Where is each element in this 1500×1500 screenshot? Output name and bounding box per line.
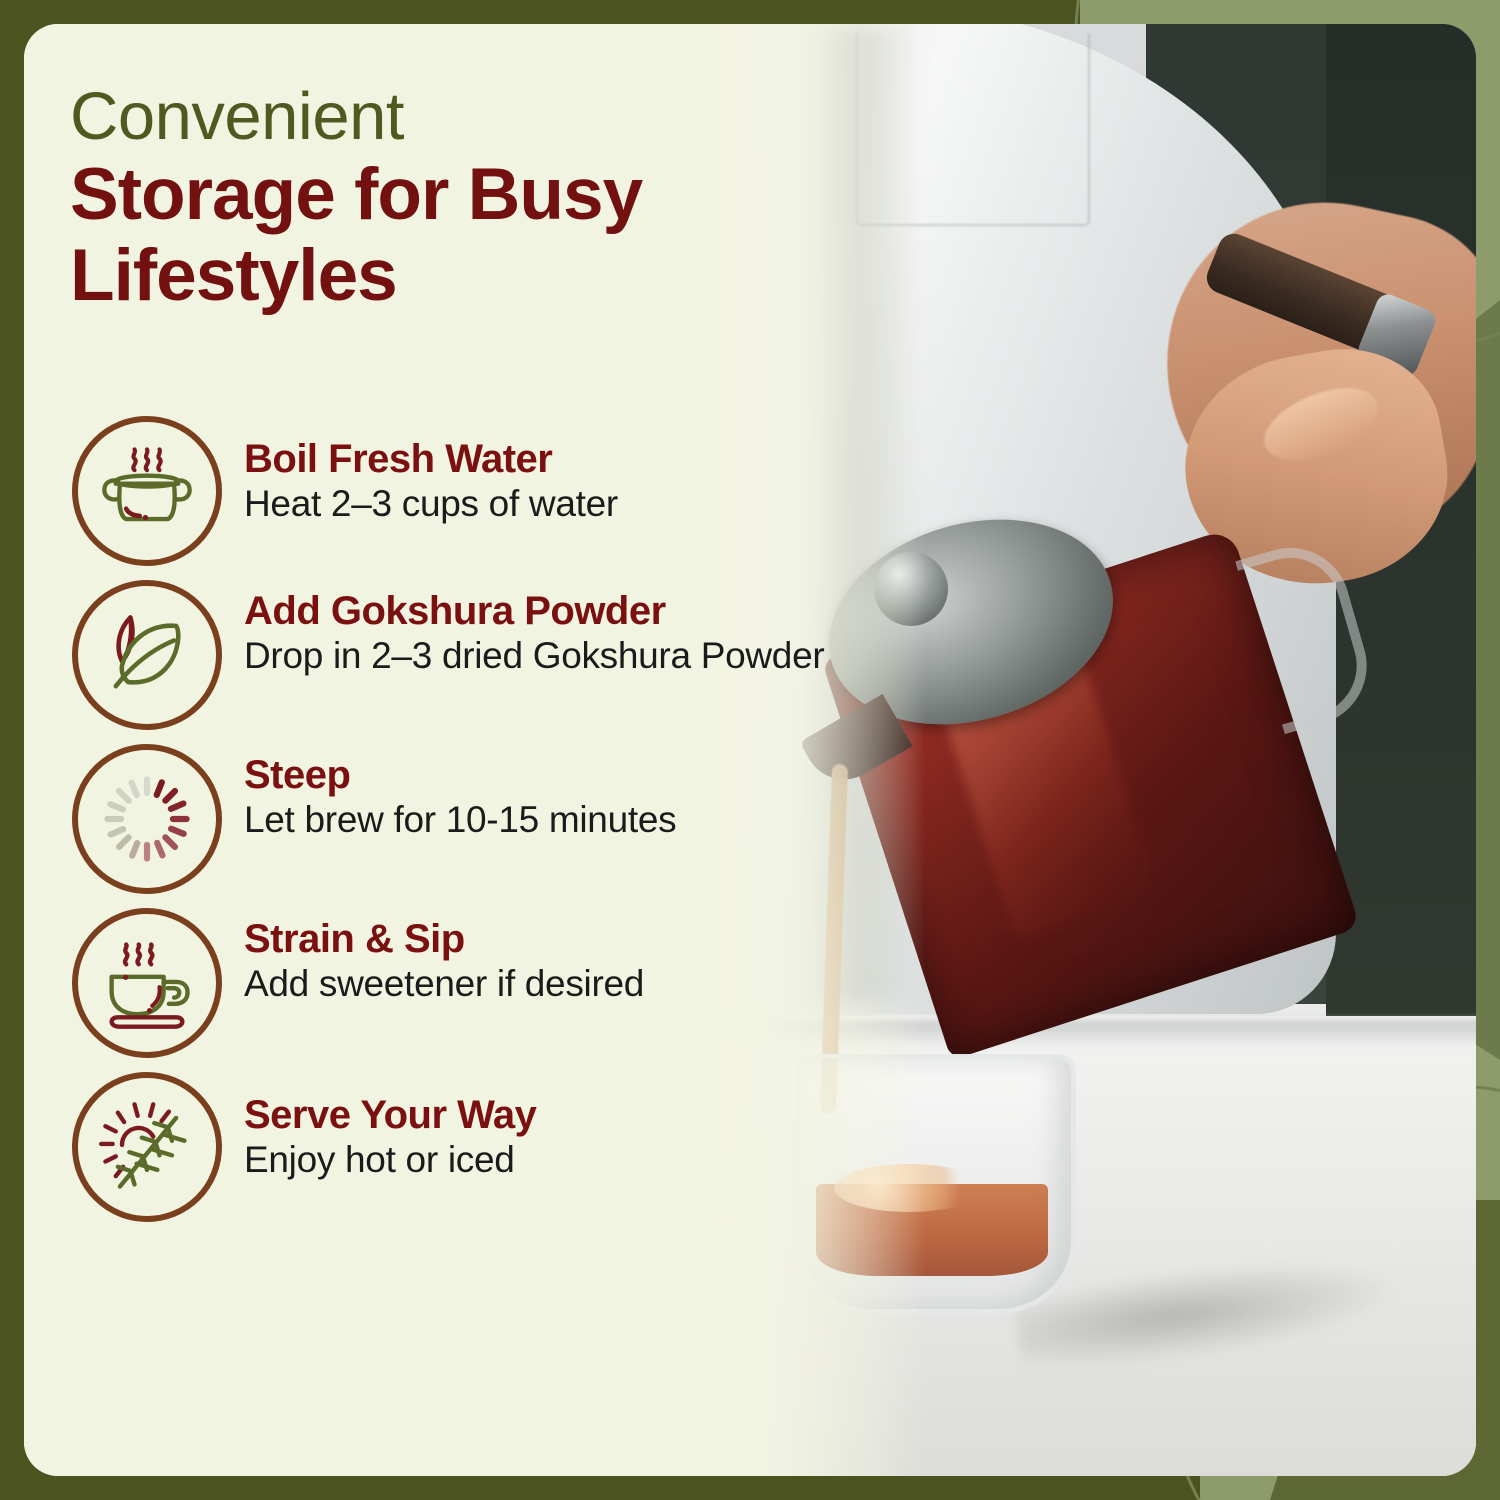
step-title: Boil Fresh Water — [244, 438, 618, 480]
step-icon-ring — [72, 1072, 222, 1222]
list-item: Serve Your Way Enjoy hot or iced — [72, 1072, 912, 1222]
two-leaves-icon — [95, 603, 199, 707]
step-icon-ring — [72, 744, 222, 894]
list-item: Add Gokshura Powder Drop in 2–3 dried Go… — [72, 580, 912, 730]
step-title: Serve Your Way — [244, 1094, 536, 1136]
step-title: Steep — [244, 754, 676, 796]
step-text: Add Gokshura Powder Drop in 2–3 dried Go… — [244, 580, 824, 677]
step-description: Heat 2–3 cups of water — [244, 483, 618, 524]
sun-and-snowflake-icon — [95, 1095, 199, 1199]
list-item: Steep Let brew for 10-15 minutes — [72, 744, 912, 894]
step-description: Drop in 2–3 dried Gokshura Powder — [244, 635, 824, 676]
radial-timer-icon — [95, 767, 199, 871]
poster-content: Convenient Storage for Busy Lifestyles — [24, 24, 1476, 1476]
list-item: Strain & Sip Add sweetener if desired — [72, 908, 912, 1058]
step-description: Enjoy hot or iced — [244, 1139, 536, 1180]
pot-with-steam-icon — [95, 439, 199, 543]
steps-list: Boil Fresh Water Heat 2–3 cups of water — [72, 416, 912, 1236]
page-title: Convenient Storage for Busy Lifestyles — [70, 82, 850, 314]
step-text: Strain & Sip Add sweetener if desired — [244, 908, 644, 1005]
step-description: Let brew for 10-15 minutes — [244, 799, 676, 840]
content-card: Convenient Storage for Busy Lifestyles — [24, 24, 1476, 1476]
teacup-with-saucer-icon — [95, 931, 199, 1035]
step-description: Add sweetener if desired — [244, 963, 644, 1004]
step-title: Add Gokshura Powder — [244, 590, 824, 632]
title-line-3: Lifestyles — [70, 237, 850, 314]
title-line-2: Storage for Busy — [70, 156, 850, 233]
list-item: Boil Fresh Water Heat 2–3 cups of water — [72, 416, 912, 566]
step-text: Serve Your Way Enjoy hot or iced — [244, 1072, 536, 1181]
title-line-1: Convenient — [70, 82, 850, 152]
step-icon-ring — [72, 908, 222, 1058]
step-text: Steep Let brew for 10-15 minutes — [244, 744, 676, 841]
poster-frame: Convenient Storage for Busy Lifestyles — [0, 0, 1500, 1500]
step-text: Boil Fresh Water Heat 2–3 cups of water — [244, 416, 618, 525]
step-icon-ring — [72, 416, 222, 566]
step-icon-ring — [72, 580, 222, 730]
step-title: Strain & Sip — [244, 918, 644, 960]
